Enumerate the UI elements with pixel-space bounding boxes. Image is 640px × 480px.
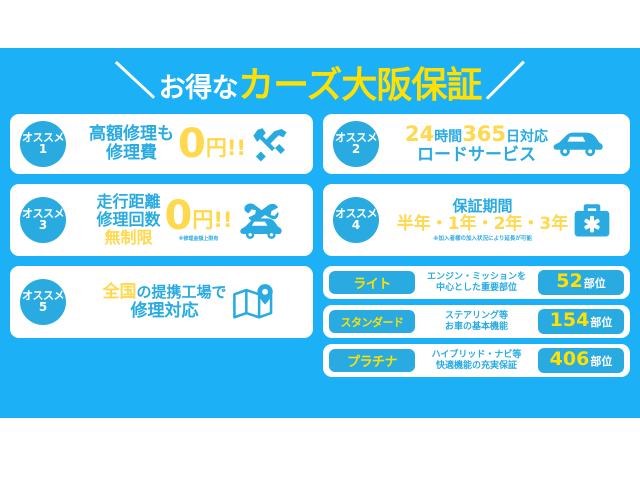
slash-left-icon: ＼: [114, 61, 155, 102]
slash-right-icon: ／: [485, 62, 525, 102]
plan-name-pill: スタンダード: [329, 310, 415, 333]
plan-name-pill: ライト: [329, 271, 415, 294]
card-4-line2: 半年・1年・2年・3年: [397, 215, 569, 234]
plan-desc-line2: 中心とした重要部位: [436, 283, 517, 294]
badge-number: 5: [39, 301, 47, 314]
card-1-price-unit: 円!!: [206, 132, 246, 162]
plan-count-unit: 部位: [590, 353, 612, 369]
card-3-line2: 修理回数: [96, 211, 160, 229]
medical-case-icon: [572, 201, 612, 239]
car-wrench-icon: [237, 198, 283, 242]
card-3-note: ※修理金額上限有: [179, 235, 219, 242]
title-main-text: カーズ大阪保証: [238, 56, 481, 108]
card-2-hours-number: 24: [405, 122, 434, 146]
card-5-line2: 修理対応: [130, 302, 198, 321]
advertisement-banner: ＼ お得な カーズ大阪保証 ／ オススメ 1 高額修理も 修理費: [0, 0, 640, 480]
card-1-line1: 高額修理も: [89, 125, 174, 144]
feature-card-3: オススメ 3 走行距離 修理回数 無制限 0 円!! ※修理金額上限有: [10, 184, 313, 256]
badge-number: 2: [352, 143, 360, 156]
plan-desc-line1: エンジン・ミッションを: [427, 272, 526, 283]
card-4-note: ※加入者様の加入状況により延長が可能: [433, 236, 532, 242]
plan-description: エンジン・ミッションを 中心とした重要部位: [415, 272, 538, 294]
plan-count-number: 406: [550, 348, 590, 370]
feature-card-4: オススメ 4 保証期間 半年・1年・2年・3年 ※加入者様の加入状況により延長が…: [323, 184, 630, 256]
plan-count-number: 52: [556, 270, 582, 292]
card-4-text: 保証期間 半年・1年・2年・3年 ※加入者様の加入状況により延長が可能: [397, 198, 569, 242]
card-3-line3: 無制限: [104, 229, 152, 247]
map-pin-icon: [231, 282, 277, 322]
plan-part-count: 406 部位: [538, 348, 624, 373]
banner-title: ＼ お得な カーズ大阪保証 ／: [0, 56, 640, 108]
plan-count-unit: 部位: [584, 275, 606, 291]
plan-row-standard[interactable]: スタンダード ステアリング等 お車の基本機能 154 部位: [323, 305, 630, 338]
feature-card-1: オススメ 1 高額修理も 修理費 0 円!!: [10, 114, 313, 174]
plan-description: ステアリング等 お車の基本機能: [415, 311, 538, 333]
card-3-text: 走行距離 修理回数 無制限: [96, 193, 160, 247]
feature-card-3-body: 走行距離 修理回数 無制限 0 円!! ※修理金額上限有: [66, 193, 313, 247]
plan-row-light[interactable]: ライト エンジン・ミッションを 中心とした重要部位 52 部位: [323, 266, 630, 299]
crossed-tools-icon: [250, 124, 290, 164]
plan-desc-line1: ステアリング等: [445, 311, 508, 322]
card-2-days-number: 365: [462, 122, 506, 146]
plan-count-unit: 部位: [590, 314, 612, 330]
plan-count-number: 154: [550, 309, 590, 331]
feature-card-5-body: 全国の提携工場で 修理対応: [66, 282, 313, 322]
recommend-badge-3: オススメ 3: [20, 197, 66, 243]
card-5-text: 全国の提携工場で 修理対応: [102, 283, 226, 321]
plan-part-count: 154 部位: [538, 309, 624, 334]
plan-list: ライト エンジン・ミッションを 中心とした重要部位 52 部位 スタンダード ス…: [323, 266, 630, 378]
card-3-price: 0 円!! ※修理金額上限有: [165, 198, 233, 242]
plan-part-count: 52 部位: [538, 270, 624, 295]
card-5-line1-highlight: 全国: [102, 282, 136, 302]
card-1-text: 高額修理も 修理費: [89, 125, 174, 163]
feature-card-2: オススメ 2 24時間365日対応 ロードサービス: [323, 114, 630, 174]
card-3-line1: 走行距離: [96, 193, 160, 211]
title-text: お得な カーズ大阪保証: [159, 56, 482, 108]
cyan-banner: ＼ お得な カーズ大阪保証 ／ オススメ 1 高額修理も 修理費: [0, 48, 640, 418]
plan-desc-line2: お車の基本機能: [445, 322, 508, 333]
feature-card-4-body: 保証期間 半年・1年・2年・3年 ※加入者様の加入状況により延長が可能: [379, 198, 630, 242]
badge-number: 3: [39, 219, 47, 232]
card-5-line1-rest: の提携工場で: [136, 283, 226, 301]
car-icon: [552, 127, 604, 161]
feature-card-1-body: 高額修理も 修理費 0 円!!: [66, 124, 313, 164]
card-1-line2: 修理費: [106, 144, 157, 163]
card-1-price-number: 0: [178, 126, 206, 162]
card-3-price-number: 0: [165, 198, 193, 234]
badge-number: 4: [352, 219, 360, 232]
feature-card-2-body: 24時間365日対応 ロードサービス: [379, 123, 630, 166]
card-2-days-unit: 日対応: [506, 129, 548, 145]
badge-number: 1: [39, 143, 47, 156]
recommend-badge-4: オススメ 4: [333, 197, 379, 243]
card-3-price-unit: 円!!: [192, 204, 232, 234]
plan-desc-line2: 快適機能の充実保証: [436, 361, 517, 372]
title-prefix: お得な: [159, 66, 239, 105]
card-5-line1: 全国の提携工場で: [102, 283, 226, 302]
card-2-text: 24時間365日対応 ロードサービス: [405, 123, 548, 166]
recommend-badge-5: オススメ 5: [20, 279, 66, 325]
recommend-badge-2: オススメ 2: [333, 121, 379, 167]
card-1-price: 0 円!!: [178, 126, 246, 162]
recommend-badge-1: オススメ 1: [20, 121, 66, 167]
feature-card-5: オススメ 5 全国の提携工場で 修理対応: [10, 266, 313, 338]
plan-row-platinum[interactable]: プラチナ ハイブリッド・ナビ等 快適機能の充実保証 406 部位: [323, 344, 630, 377]
plan-name-pill: プラチナ: [329, 349, 415, 372]
card-2-hours-unit: 時間: [434, 129, 462, 145]
plan-description: ハイブリッド・ナビ等 快適機能の充実保証: [415, 350, 538, 372]
card-3-price-row: 0 円!!: [165, 198, 233, 234]
card-2-line1: 24時間365日対応: [405, 123, 548, 147]
card-2-line2: ロードサービス: [417, 146, 536, 165]
card-4-line1: 保証期間: [452, 198, 512, 215]
plan-desc-line1: ハイブリッド・ナビ等: [432, 350, 522, 361]
